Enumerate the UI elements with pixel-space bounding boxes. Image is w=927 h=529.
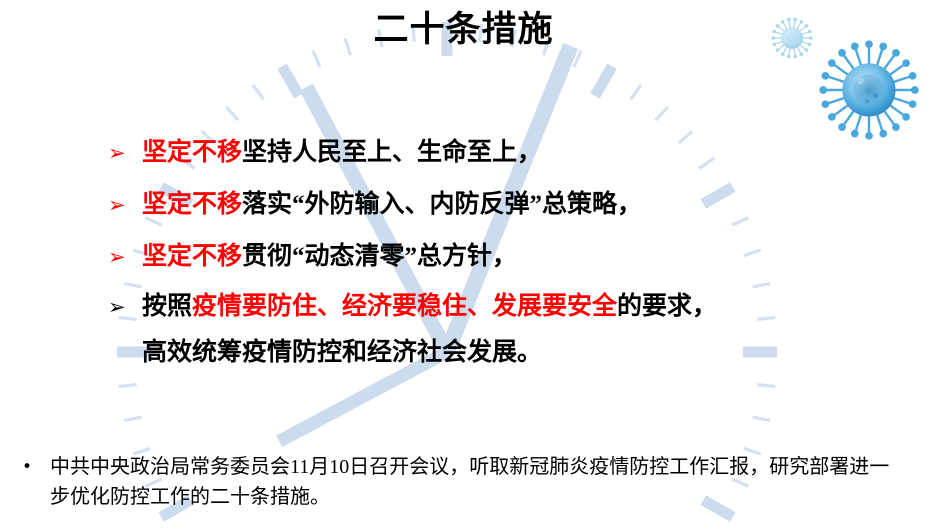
list-item-text: 坚定不移坚持人民至上、生命至上， xyxy=(142,136,898,170)
list-item: ➢ 坚定不移落实“外防输入、内防反弹”总策略， xyxy=(108,188,898,222)
list-item-segment-highlight: 坚定不移 xyxy=(142,139,242,166)
list-item-segment-highlight: 坚定不移 xyxy=(142,243,242,270)
list-item-segment-body: 坚持人民至上、生命至上， xyxy=(242,139,542,166)
list-item-text: 坚定不移落实“外防输入、内防反弹”总策略， xyxy=(142,188,898,222)
arrow-bullet-icon: ➢ xyxy=(108,290,142,324)
list-item-segment-suffix: 的要求， xyxy=(617,293,717,320)
list-item-segment-prefix: 按照 xyxy=(142,293,192,320)
list-item: ➢ 按照疫情要防住、经济要稳住、发展要安全的要求， xyxy=(108,290,898,324)
presentation-slide: 二十条措施 ➢ 坚定不移坚持人民至上、生命至上， ➢ 坚定不移落实“外防输入、内… xyxy=(0,0,927,529)
list-item: ➢ 坚定不移贯彻“动态清零”总方针， xyxy=(108,240,898,274)
arrow-bullet-icon: ➢ xyxy=(108,240,142,274)
list-item-continuation: 高效统筹疫情防控和经济社会发展。 xyxy=(142,336,898,370)
list-item: ➢ 坚定不移坚持人民至上、生命至上， xyxy=(108,136,898,170)
footer-note: • 中共中央政治局常务委员会11月10日召开会议，听取新冠肺炎疫情防控工作汇报，… xyxy=(14,452,894,512)
arrow-bullet-icon: ➢ xyxy=(108,136,142,170)
list-item-text: 按照疫情要防住、经济要稳住、发展要安全的要求， xyxy=(142,290,898,324)
footer-note-text: 中共中央政治局常务委员会11月10日召开会议，听取新冠肺炎疫情防控工作汇报，研究… xyxy=(50,452,894,512)
list-item-text: 坚定不移贯彻“动态清零”总方针， xyxy=(142,240,898,274)
dot-bullet-icon: • xyxy=(14,452,50,482)
list-item-segment-highlight: 坚定不移 xyxy=(142,191,242,218)
bullet-list: ➢ 坚定不移坚持人民至上、生命至上， ➢ 坚定不移落实“外防输入、内防反弹”总策… xyxy=(108,136,898,370)
list-item-segment-body: 贯彻“动态清零”总方针， xyxy=(242,243,517,270)
list-item-segment-highlight: 疫情要防住、经济要稳住、发展要安全 xyxy=(192,293,617,320)
page-title: 二十条措施 xyxy=(0,8,927,52)
list-item-segment-body: 落实“外防输入、内防反弹”总策略， xyxy=(242,191,642,218)
arrow-bullet-icon: ➢ xyxy=(108,188,142,222)
